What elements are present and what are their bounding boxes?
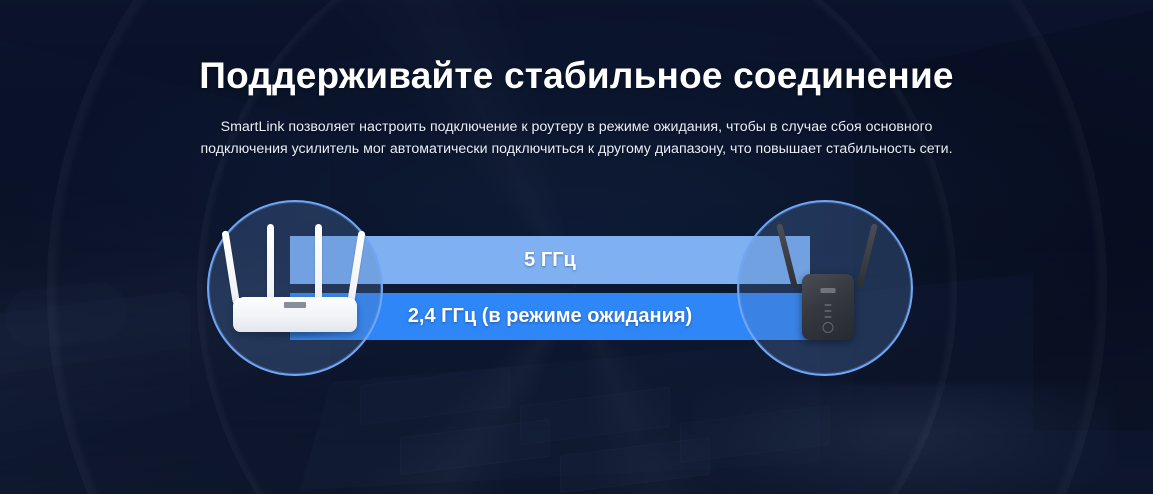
- extender-button-icon: [823, 322, 834, 333]
- router-antenna-icon: [315, 224, 322, 304]
- extender-led-icon: [825, 310, 832, 312]
- router-logo-icon: [284, 302, 306, 308]
- extender-led-icon: [825, 316, 832, 318]
- banner-content: Поддерживайте стабильное соединение Smar…: [0, 0, 1153, 494]
- router-device-icon: [227, 222, 363, 340]
- extender-logo-icon: [821, 288, 836, 293]
- router-antenna-icon: [347, 230, 365, 304]
- wifi-extender-device-icon: [790, 222, 866, 342]
- smartlink-promo-banner: Поддерживайте стабильное соединение Smar…: [0, 0, 1153, 494]
- extender-led-icon: [825, 304, 832, 306]
- router-antenna-icon: [267, 224, 274, 304]
- smartlink-connection-diagram: 5 ГГц 2,4 ГГц (в режиме ожидания): [0, 0, 1153, 494]
